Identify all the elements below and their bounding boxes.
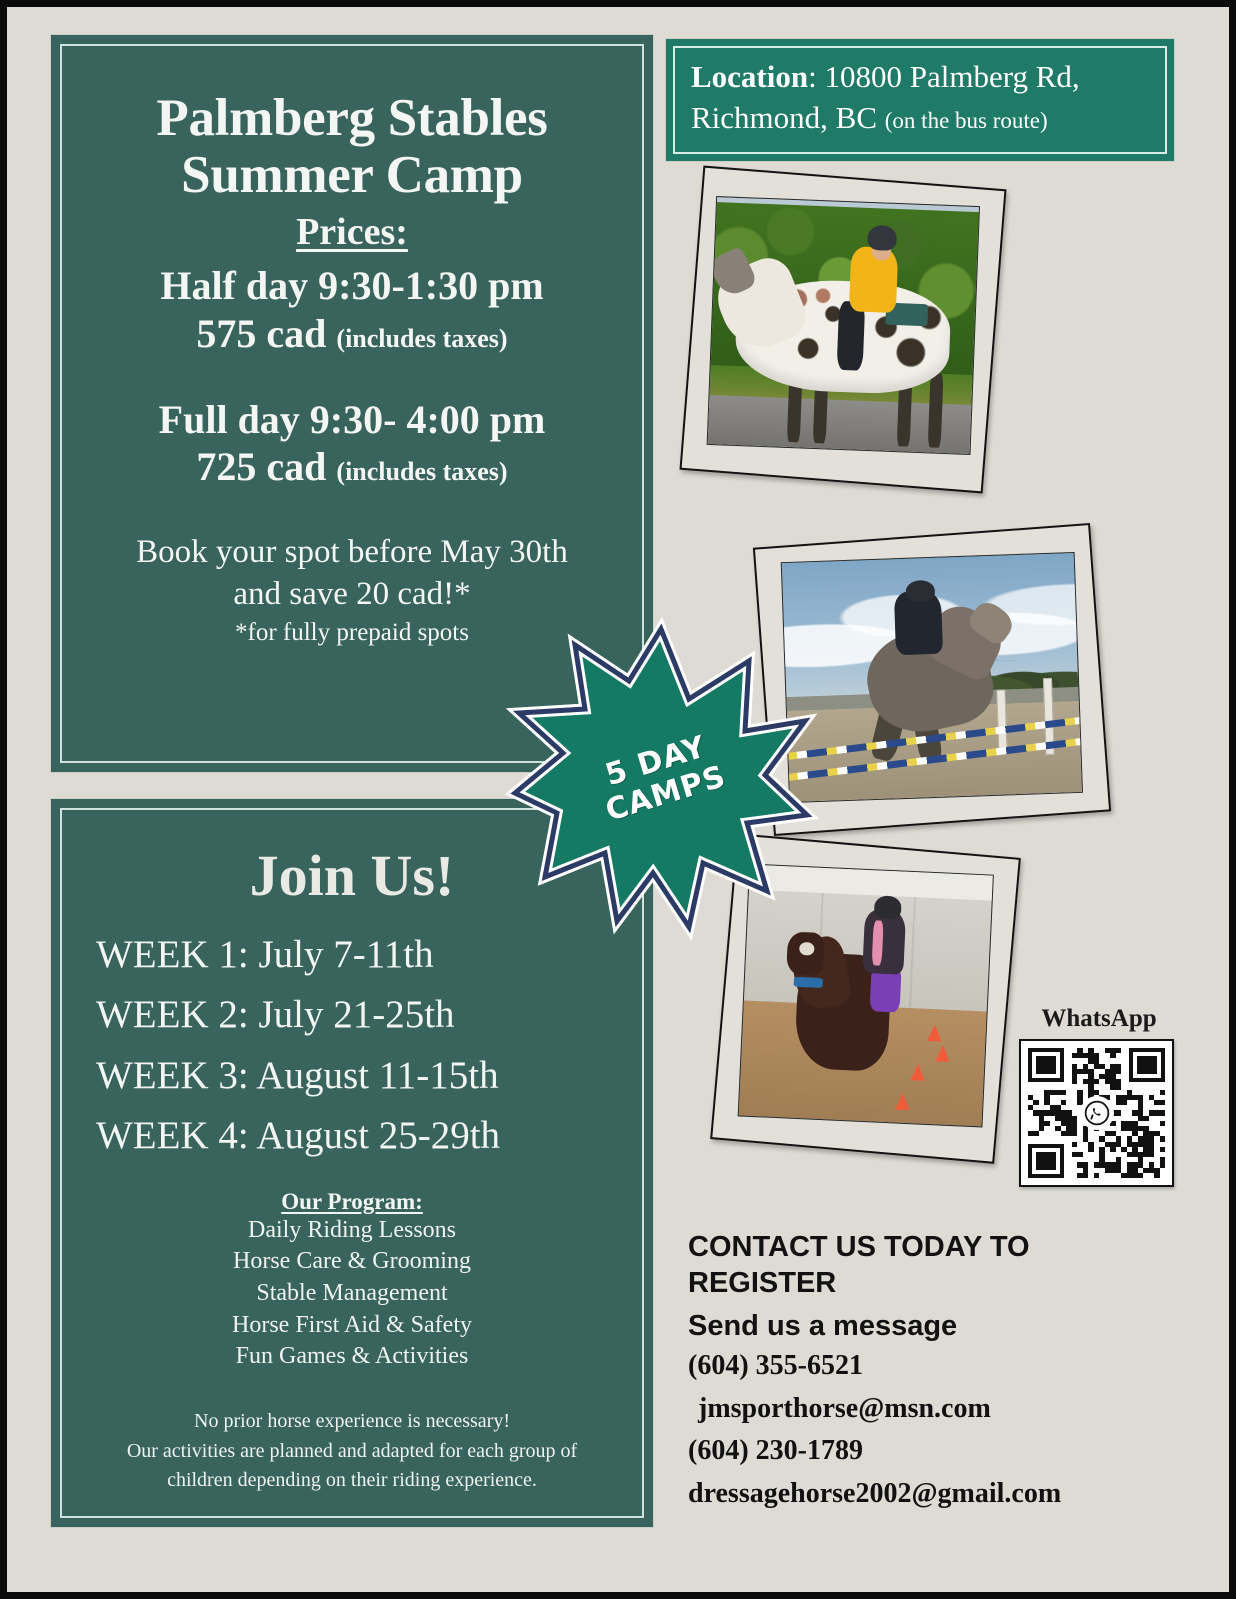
list-item: Horse Care & Grooming: [70, 1246, 634, 1278]
week-list: WEEK 1: July 7-11th WEEK 2: July 21-25th…: [70, 925, 634, 1167]
experience-footnote: No prior horse experience is necessary! …: [70, 1407, 634, 1496]
photo-appaloosa-child-rider: [680, 166, 1007, 494]
whatsapp-label: WhatsApp: [1019, 1005, 1179, 1033]
full-day-price-row: 725 cad (includes taxes): [70, 443, 634, 491]
full-day-price: 725 cad: [196, 444, 326, 489]
contact-heading-line-1: CONTACT US TODAY TO: [688, 1229, 1158, 1265]
location-label: Location: [691, 59, 808, 94]
photo-cone: [927, 1023, 942, 1041]
photo-rider-helmet: [874, 895, 902, 919]
list-item: Daily Riding Lessons: [70, 1215, 634, 1247]
location-text: Location: 10800 Palmberg Rd, Richmond, B…: [669, 42, 1171, 158]
list-item: Fun Games & Activities: [70, 1341, 634, 1373]
contact-heading-line-2: REGISTER: [688, 1265, 1158, 1301]
program-heading: Our Program:: [70, 1189, 634, 1215]
starburst-shape: [513, 625, 809, 931]
location-box: Location: 10800 Palmberg Rd, Richmond, B…: [666, 39, 1174, 161]
title-line-1: Palmberg Stables: [70, 90, 634, 147]
whatsapp-icon: [1080, 1096, 1114, 1130]
list-item: Stable Management: [70, 1278, 634, 1310]
poster-page: Palmberg Stables Summer Camp Prices: Hal…: [0, 0, 1236, 1599]
full-day-time: Full day 9:30- 4:00 pm: [70, 396, 634, 443]
footnote-line: No prior horse experience is necessary!: [70, 1407, 634, 1437]
contact-heading: CONTACT US TODAY TO REGISTER: [688, 1229, 1158, 1302]
qr-code[interactable]: [1019, 1039, 1174, 1187]
booking-line-1: Book your spot before May 30th: [70, 531, 634, 573]
five-day-camps-badge: 5 DAY CAMPS: [513, 625, 809, 931]
list-item: WEEK 1: July 7-11th: [96, 925, 634, 985]
photo-rider-body: [862, 910, 906, 975]
title-line-2: Summer Camp: [70, 147, 634, 204]
photo-cone: [936, 1044, 951, 1062]
half-day-time: Half day 9:30-1:30 pm: [70, 262, 634, 309]
footnote-line: Our activities are planned and adapted f…: [70, 1437, 634, 1467]
location-bus-note: (on the bus route): [885, 108, 1048, 133]
program-list: Daily Riding Lessons Horse Care & Groomi…: [70, 1215, 634, 1373]
contact-phone-2[interactable]: (604) 230-1789: [688, 1430, 1158, 1473]
contact-email-2[interactable]: dressagehorse2002@gmail.com: [688, 1473, 1158, 1516]
photo-image: [781, 552, 1083, 803]
early-booking-offer: Book your spot before May 30th and save …: [70, 531, 634, 615]
list-item: WEEK 2: July 21-25th: [96, 985, 634, 1045]
full-day-tax-note: (includes taxes): [336, 457, 507, 486]
footnote-line: children depending on their riding exper…: [70, 1466, 634, 1496]
half-day-price: 575 cad: [196, 311, 326, 356]
qr-finder-bottom-left: [1028, 1144, 1064, 1178]
qr-canvas: [1028, 1048, 1165, 1178]
contact-email-1[interactable]: jmsporthorse@msn.com: [688, 1388, 1158, 1431]
half-day-price-row: 575 cad (includes taxes): [70, 310, 634, 358]
poster-title: Palmberg Stables Summer Camp: [70, 90, 634, 204]
photo-rider-helmet: [905, 579, 935, 602]
photo-cone: [911, 1063, 926, 1081]
contact-phone-1[interactable]: (604) 355-6521: [688, 1345, 1158, 1388]
half-day-tax-note: (includes taxes): [336, 324, 507, 353]
photo-bridle: [793, 977, 823, 988]
list-item: Horse First Aid & Safety: [70, 1310, 634, 1342]
whatsapp-qr-block: WhatsApp: [1019, 1005, 1179, 1187]
qr-finder-top-right: [1129, 1048, 1165, 1082]
contact-block: CONTACT US TODAY TO REGISTER Send us a m…: [688, 1229, 1158, 1515]
location-address: : 10800 Palmberg Rd,: [808, 59, 1080, 94]
booking-line-2: and save 20 cad!*: [70, 573, 634, 615]
photo-rider-helmet: [867, 225, 897, 251]
photo-cone: [895, 1092, 910, 1110]
qr-finder-top-left: [1028, 1048, 1064, 1082]
list-item: WEEK 4: August 25-29th: [96, 1106, 634, 1166]
prices-heading: Prices:: [70, 210, 634, 254]
list-item: WEEK 3: August 11-15th: [96, 1046, 634, 1106]
contact-subheading: Send us a message: [688, 1308, 1158, 1346]
photo-image: [707, 196, 980, 455]
price-spacer: [70, 358, 634, 388]
location-city: Richmond, BC: [691, 100, 877, 135]
